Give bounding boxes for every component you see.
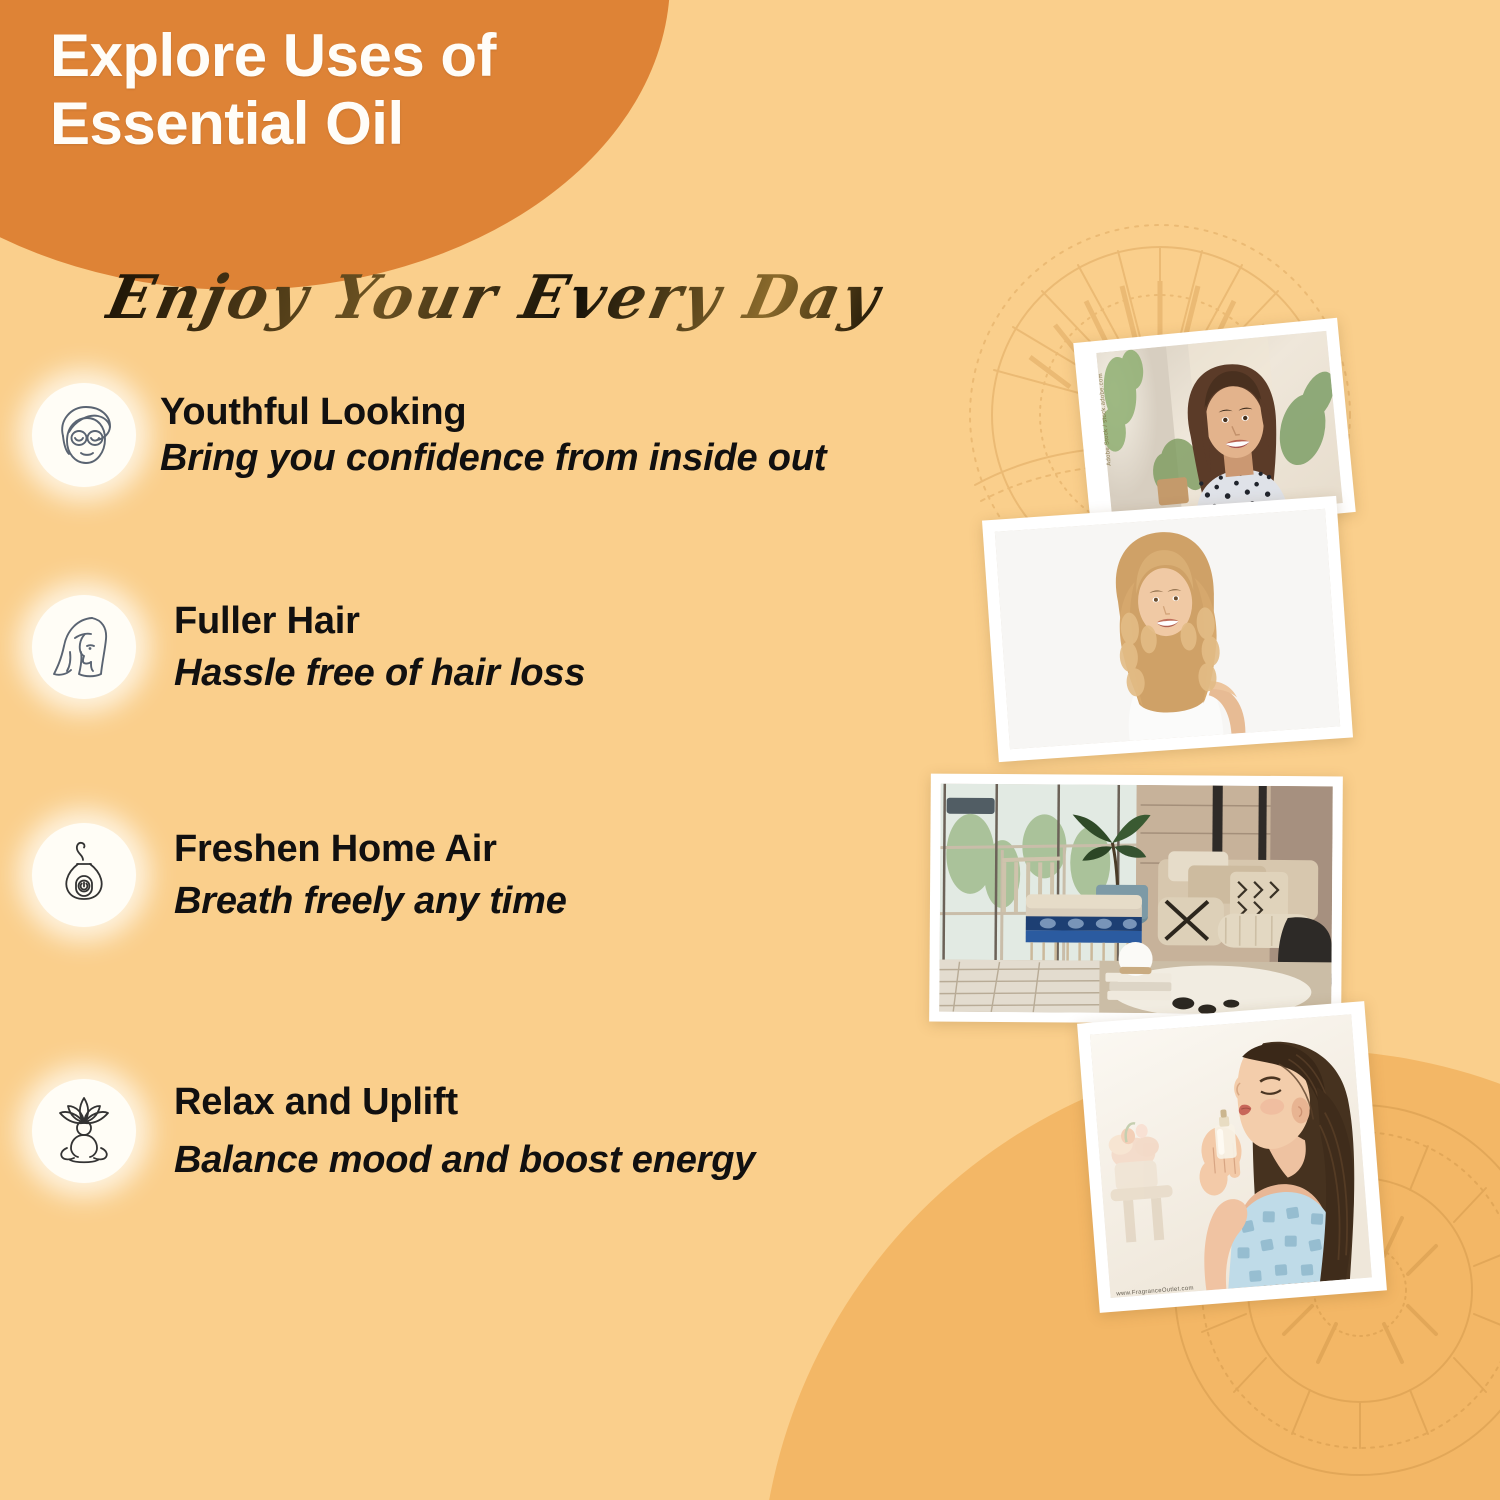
- feature-text-group: Fuller Hair Hassle free of hair loss: [160, 597, 585, 696]
- feature-title: Relax and Uplift: [174, 1080, 755, 1125]
- feature-subtitle: Bring you confidence from inside out: [160, 435, 826, 481]
- script-tagline: Enjoy Your Every Day: [101, 263, 888, 333]
- lotus-meditation-icon: [32, 1079, 136, 1183]
- aroma-diffuser-icon: [32, 823, 136, 927]
- feature-title: Fuller Hair: [174, 599, 585, 644]
- infographic-canvas: Explore Uses of Essential Oil Enjoy Your…: [0, 0, 1500, 1500]
- page-title-line-2: Essential Oil: [50, 90, 670, 158]
- photo-blonde-wavy-hair: [982, 496, 1353, 762]
- photo-woman-spraying-perfume-image: [1090, 1014, 1372, 1298]
- feature-subtitle: Balance mood and boost energy: [174, 1137, 755, 1183]
- feature-text-group: Youthful Looking Bring you confidence fr…: [160, 388, 826, 481]
- feature-item-youthful-looking: Youthful Looking Bring you confidence fr…: [32, 383, 826, 487]
- feature-title: Freshen Home Air: [174, 827, 567, 872]
- photo-blonde-wavy-hair-image: [995, 509, 1340, 750]
- feature-item-freshen-home-air: Freshen Home Air Breath freely any time: [32, 823, 567, 927]
- feature-text-group: Freshen Home Air Breath freely any time: [160, 825, 567, 924]
- page-title-line-1: Explore Uses of: [50, 22, 670, 90]
- photo-cozy-living-room: [929, 774, 1343, 1025]
- feature-title: Youthful Looking: [160, 390, 826, 435]
- page-title: Explore Uses of Essential Oil: [50, 22, 670, 158]
- feature-item-fuller-hair: Fuller Hair Hassle free of hair loss: [32, 595, 585, 699]
- photo-cozy-living-room-image: [939, 784, 1333, 1015]
- feature-subtitle: Hassle free of hair loss: [174, 650, 585, 696]
- photo-woman-spraying-perfume: www.FragranceOutlet.com: [1077, 1001, 1387, 1313]
- feature-item-relax-and-uplift: Relax and Uplift Balance mood and boost …: [32, 1078, 755, 1183]
- face-mask-icon: [32, 383, 136, 487]
- photo-smiling-woman-image: [1096, 331, 1343, 525]
- feature-subtitle: Breath freely any time: [174, 878, 567, 924]
- feature-text-group: Relax and Uplift Balance mood and boost …: [160, 1078, 755, 1183]
- long-hair-profile-icon: [32, 595, 136, 699]
